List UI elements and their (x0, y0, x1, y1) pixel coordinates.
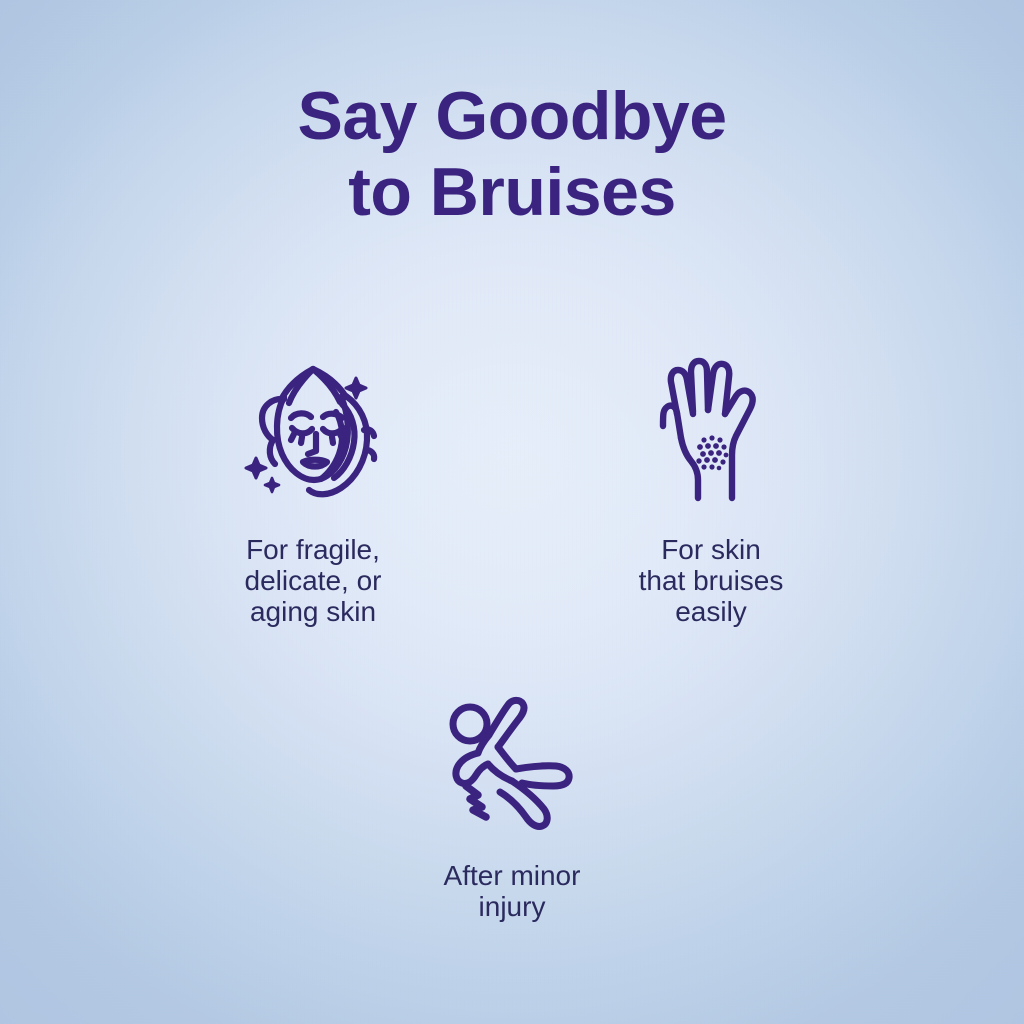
falling-person-icon (432, 686, 592, 836)
feature-caption: For skin that bruises easily (639, 534, 784, 627)
feature-caption: For fragile, delicate, or aging skin (245, 534, 382, 627)
feature-caption: After minor injury (444, 860, 581, 922)
feature-row-top: For fragile, delicate, or aging skin (0, 352, 1024, 627)
title-line-2: to Bruises (0, 154, 1024, 230)
feature-fragile-skin: For fragile, delicate, or aging skin (188, 352, 438, 627)
woman-face-sparkles-icon (228, 352, 398, 512)
feature-bruises-easily: For skin that bruises easily (586, 352, 836, 627)
page-title: Say Goodbye to Bruises (0, 78, 1024, 230)
feature-minor-injury: After minor injury (387, 686, 637, 922)
feature-row-bottom: After minor injury (0, 686, 1024, 922)
title-line-1: Say Goodbye (0, 78, 1024, 154)
hand-bruise-icon (641, 352, 781, 512)
poster-canvas: Say Goodbye to Bruises (0, 0, 1024, 1024)
